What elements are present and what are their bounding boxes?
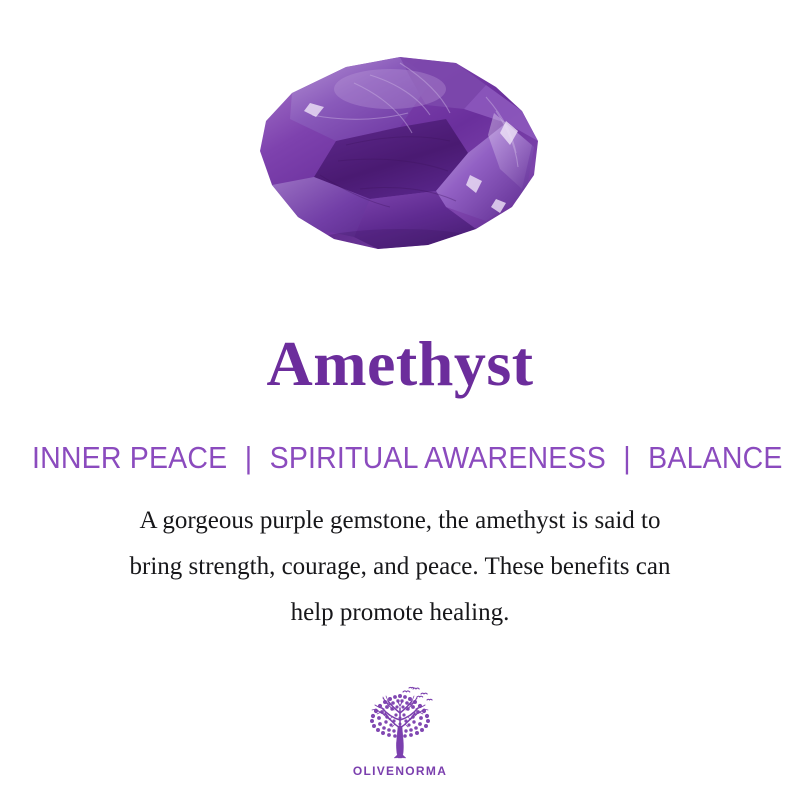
amethyst-crystal-illustration	[250, 49, 550, 261]
keyword-inner-peace: INNER PEACE	[32, 440, 227, 475]
keyword-list: INNER PEACE | SPIRITUAL AWARENESS | BALA…	[32, 441, 768, 475]
product-info-card: Amethyst INNER PEACE | SPIRITUAL AWARENE…	[0, 0, 800, 800]
product-description: A gorgeous purple gemstone, the amethyst…	[50, 498, 750, 636]
page-title: Amethyst	[0, 332, 800, 396]
description-line-3: help promote healing.	[50, 590, 750, 636]
gemstone-image	[0, 0, 800, 310]
description-line-1: A gorgeous purple gemstone, the amethyst…	[50, 498, 750, 544]
crystal-facets	[250, 49, 550, 261]
brand-logo: OLIVENORMA	[0, 686, 800, 778]
keyword-spiritual-awareness: SPIRITUAL AWARENESS	[270, 440, 606, 475]
description-line-2: bring strength, courage, and peace. Thes…	[50, 544, 750, 590]
keyword-balance: BALANCE	[648, 440, 782, 475]
keyword-separator-1: |	[235, 441, 261, 475]
brand-wordmark: OLIVENORMA	[353, 764, 447, 778]
keyword-separator-2: |	[614, 441, 640, 475]
tree-of-life-icon	[357, 686, 443, 760]
